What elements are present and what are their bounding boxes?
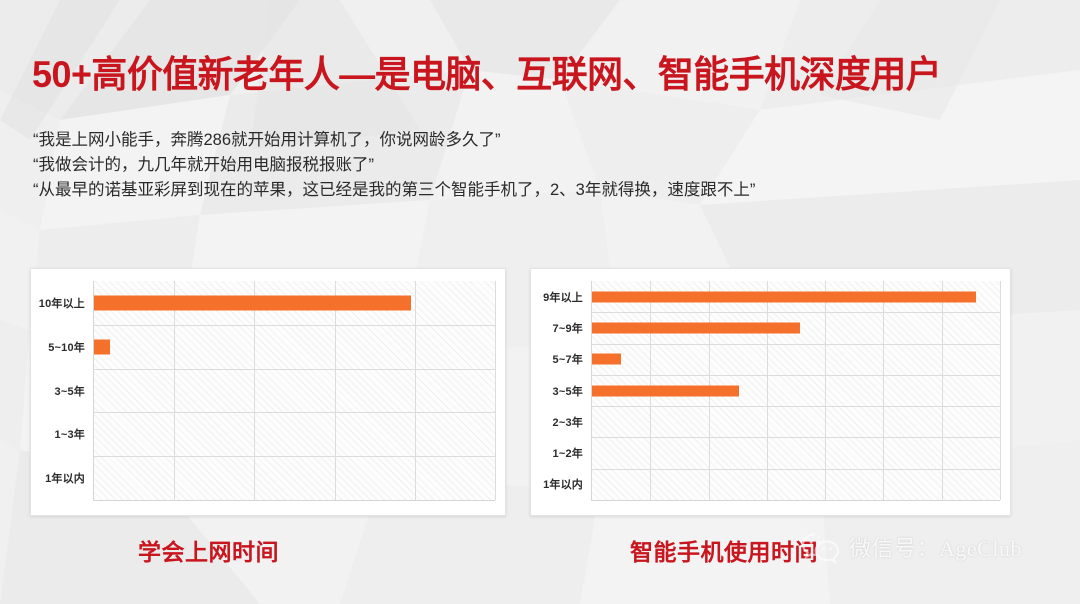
- chart-category-label: 10年以上: [39, 295, 85, 311]
- chart-bar: [592, 354, 621, 365]
- chart-left-category-axis: 10年以上5~10年3~5年1~3年1年以内: [31, 269, 93, 515]
- chart-gridline-horizontal: [592, 375, 1000, 376]
- chart-gridline-horizontal: [94, 369, 495, 370]
- chart-gridline-horizontal: [592, 344, 1000, 345]
- chart-gridline-vertical: [942, 281, 943, 500]
- chart-gridline-vertical: [883, 281, 884, 500]
- chart-gridline-vertical: [335, 281, 336, 500]
- chart-left-plot-area: [93, 281, 495, 501]
- watermark-text: 微信号：AgeClub: [849, 531, 1022, 563]
- chart-right-category-axis: 9年以上7~9年5~7年3~5年2~3年1~2年1年以内: [531, 269, 591, 515]
- chart-gridline-horizontal: [592, 469, 1000, 470]
- chart-gridline-vertical: [825, 281, 826, 500]
- chart-gridline-horizontal: [94, 456, 495, 457]
- chart-category-label: 7~9年: [553, 320, 583, 336]
- chart-category-label: 3~5年: [553, 383, 583, 399]
- quote-line-1: “我是上网小能手，奔腾286就开始用计算机了，你说网龄多久了”: [33, 128, 755, 153]
- wechat-icon: [800, 529, 842, 565]
- chart-category-label: 3~5年: [55, 383, 85, 399]
- chart-bar: [592, 291, 976, 302]
- chart-gridline-horizontal: [94, 412, 495, 413]
- quote-line-3: “从最早的诺基亚彩屏到现在的苹果，这已经是我的第三个智能手机了，2、3年就得换，…: [33, 178, 755, 203]
- quote-line-2: “我做会计的，九几年就开始用电脑报税报账了”: [33, 153, 755, 178]
- chart-bar: [592, 322, 800, 333]
- chart-gridline-vertical: [767, 281, 768, 500]
- chart-bar: [592, 385, 739, 396]
- chart-gridline-vertical: [254, 281, 255, 500]
- chart-gridline-horizontal: [94, 325, 495, 326]
- chart-gridline-horizontal: [592, 312, 1000, 313]
- chart-category-label: 1~3年: [55, 426, 85, 442]
- caption-left: 学会上网时间: [138, 533, 279, 567]
- chart-category-label: 5~7年: [553, 351, 583, 367]
- chart-category-label: 1年以内: [543, 476, 583, 492]
- chart-category-label: 1年以内: [45, 470, 85, 486]
- page-title: 50+高价值新老年人—是电脑、互联网、智能手机深度用户: [32, 44, 941, 98]
- chart-gridline-vertical: [415, 281, 416, 500]
- chart-right-plot-area: [591, 281, 1000, 501]
- chart-gridline-vertical: [495, 281, 496, 500]
- caption-right: 智能手机使用时间: [630, 533, 818, 567]
- chart-smartphone-usage-duration: 9年以上7~9年5~7年3~5年2~3年1~2年1年以内: [530, 268, 1011, 516]
- quotes-block: “我是上网小能手，奔腾286就开始用计算机了，你说网龄多久了” “我做会计的，九…: [33, 128, 755, 203]
- chart-bar: [94, 295, 411, 310]
- slide-root: 50+高价值新老年人—是电脑、互联网、智能手机深度用户 “我是上网小能手，奔腾2…: [0, 0, 1080, 604]
- chart-gridline-horizontal: [592, 437, 1000, 438]
- chart-category-label: 1~2年: [553, 445, 583, 461]
- chart-learn-internet-duration: 10年以上5~10年3~5年1~3年1年以内: [30, 268, 506, 516]
- chart-category-label: 5~10年: [48, 339, 85, 355]
- chart-gridline-horizontal: [592, 406, 1000, 407]
- chart-bar: [94, 339, 110, 354]
- watermark: 微信号：AgeClub: [800, 529, 1022, 565]
- chart-gridline-vertical: [174, 281, 175, 500]
- chart-gridline-vertical: [1000, 281, 1001, 500]
- chart-category-label: 9年以上: [543, 289, 583, 305]
- chart-category-label: 2~3年: [553, 414, 583, 430]
